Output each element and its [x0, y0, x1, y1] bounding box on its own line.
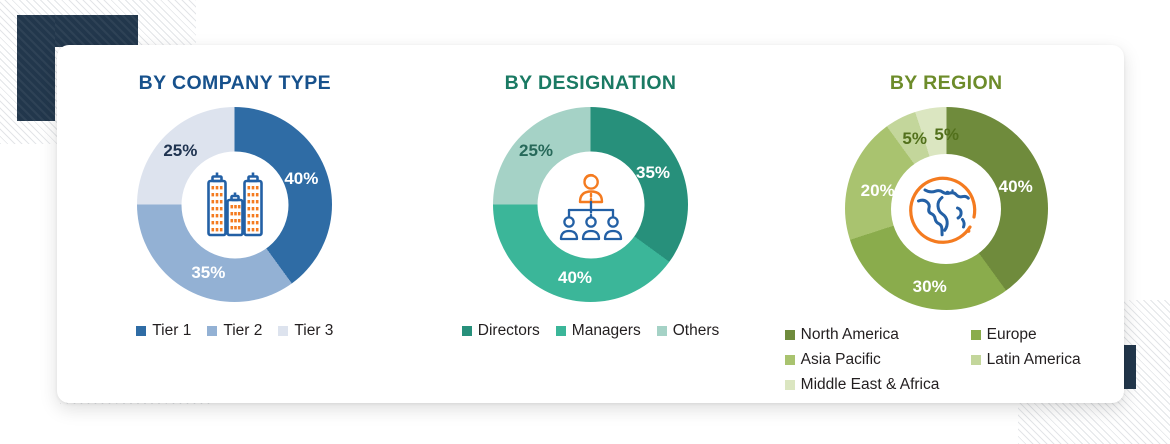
legend-swatch-tier-1: [136, 326, 146, 336]
segment-label-tier-1: 40%: [284, 169, 318, 189]
legend-swatch-managers: [556, 326, 566, 336]
donut-ring-designation: 35% 40% 25%: [493, 107, 688, 302]
content-card: BY COMPANY TYPE: [57, 45, 1124, 403]
panel-by-company-type: BY COMPANY TYPE: [57, 45, 413, 403]
legend-swatch-north-america: [785, 330, 795, 340]
legend-by-designation: Directors Managers Others: [462, 318, 719, 343]
legend-item-others[interactable]: Others: [657, 318, 720, 343]
org-chart-icon: [556, 169, 626, 241]
segment-label-tier-3: 25%: [163, 141, 197, 161]
legend-label-tier-3: Tier 3: [294, 318, 333, 343]
segment-label-others: 25%: [519, 141, 553, 161]
globe-icon: [908, 171, 984, 247]
legend-item-middle-east-africa[interactable]: Middle East & Africa: [785, 372, 940, 397]
segment-label-north-america: 40%: [999, 177, 1033, 197]
legend-label-latin-america: Latin America: [987, 347, 1081, 372]
legend-swatch-europe: [971, 330, 981, 340]
segment-label-managers: 40%: [558, 268, 592, 288]
donut-chart-by-designation: 35% 40% 25%: [493, 107, 688, 302]
legend-label-tier-2: Tier 2: [223, 318, 262, 343]
panel-by-designation: BY DESIGNATION: [413, 45, 769, 403]
legend-label-asia-pacific: Asia Pacific: [801, 347, 881, 372]
legend-swatch-latin-america: [971, 355, 981, 365]
panel-title-by-designation: BY DESIGNATION: [505, 72, 677, 95]
legend-item-europe[interactable]: Europe: [971, 322, 1037, 347]
legend-by-region: North America Europe Asia Pacific Latin …: [785, 322, 1116, 397]
infographic-canvas: BY COMPANY TYPE: [0, 0, 1170, 444]
legend-swatch-others: [657, 326, 667, 336]
legend-swatch-tier-3: [278, 326, 288, 336]
legend-by-company-type: Tier 1 Tier 2 Tier 3: [136, 318, 333, 343]
segment-label-tier-2: 35%: [191, 263, 225, 283]
buildings-icon: [202, 167, 268, 243]
legend-item-latin-america[interactable]: Latin America: [971, 347, 1081, 372]
legend-item-managers[interactable]: Managers: [556, 318, 641, 343]
legend-item-tier-1[interactable]: Tier 1: [136, 318, 191, 343]
legend-item-tier-2[interactable]: Tier 2: [207, 318, 262, 343]
panel-title-by-company-type: BY COMPANY TYPE: [139, 72, 331, 95]
segment-label-middle-east-africa: 5%: [934, 125, 959, 145]
legend-label-managers: Managers: [572, 318, 641, 343]
donut-chart-by-region: 40% 30% 20% 5% 5%: [845, 107, 1048, 310]
legend-swatch-asia-pacific: [785, 355, 795, 365]
donut-chart-by-company-type: 40% 35% 25%: [137, 107, 332, 302]
legend-swatch-directors: [462, 326, 472, 336]
legend-label-directors: Directors: [478, 318, 540, 343]
legend-label-others: Others: [673, 318, 720, 343]
segment-label-europe: 30%: [913, 277, 947, 297]
legend-swatch-middle-east-africa: [785, 380, 795, 390]
legend-label-europe: Europe: [987, 322, 1037, 347]
donut-ring-company-type: 40% 35% 25%: [137, 107, 332, 302]
corner-accent-top-left-vertical: [17, 15, 55, 121]
legend-label-tier-1: Tier 1: [152, 318, 191, 343]
legend-swatch-tier-2: [207, 326, 217, 336]
legend-label-north-america: North America: [801, 322, 899, 347]
segment-label-asia-pacific: 20%: [861, 181, 895, 201]
donut-ring-region: 40% 30% 20% 5% 5%: [845, 107, 1048, 310]
legend-item-north-america[interactable]: North America: [785, 322, 899, 347]
panel-by-region: BY REGION: [768, 45, 1124, 403]
panel-title-by-region: BY REGION: [890, 72, 1003, 95]
legend-item-asia-pacific[interactable]: Asia Pacific: [785, 347, 881, 372]
legend-item-tier-3[interactable]: Tier 3: [278, 318, 333, 343]
legend-item-directors[interactable]: Directors: [462, 318, 540, 343]
segment-label-latin-america: 5%: [902, 129, 927, 149]
legend-label-middle-east-africa: Middle East & Africa: [801, 372, 940, 397]
segment-label-directors: 35%: [636, 163, 670, 183]
